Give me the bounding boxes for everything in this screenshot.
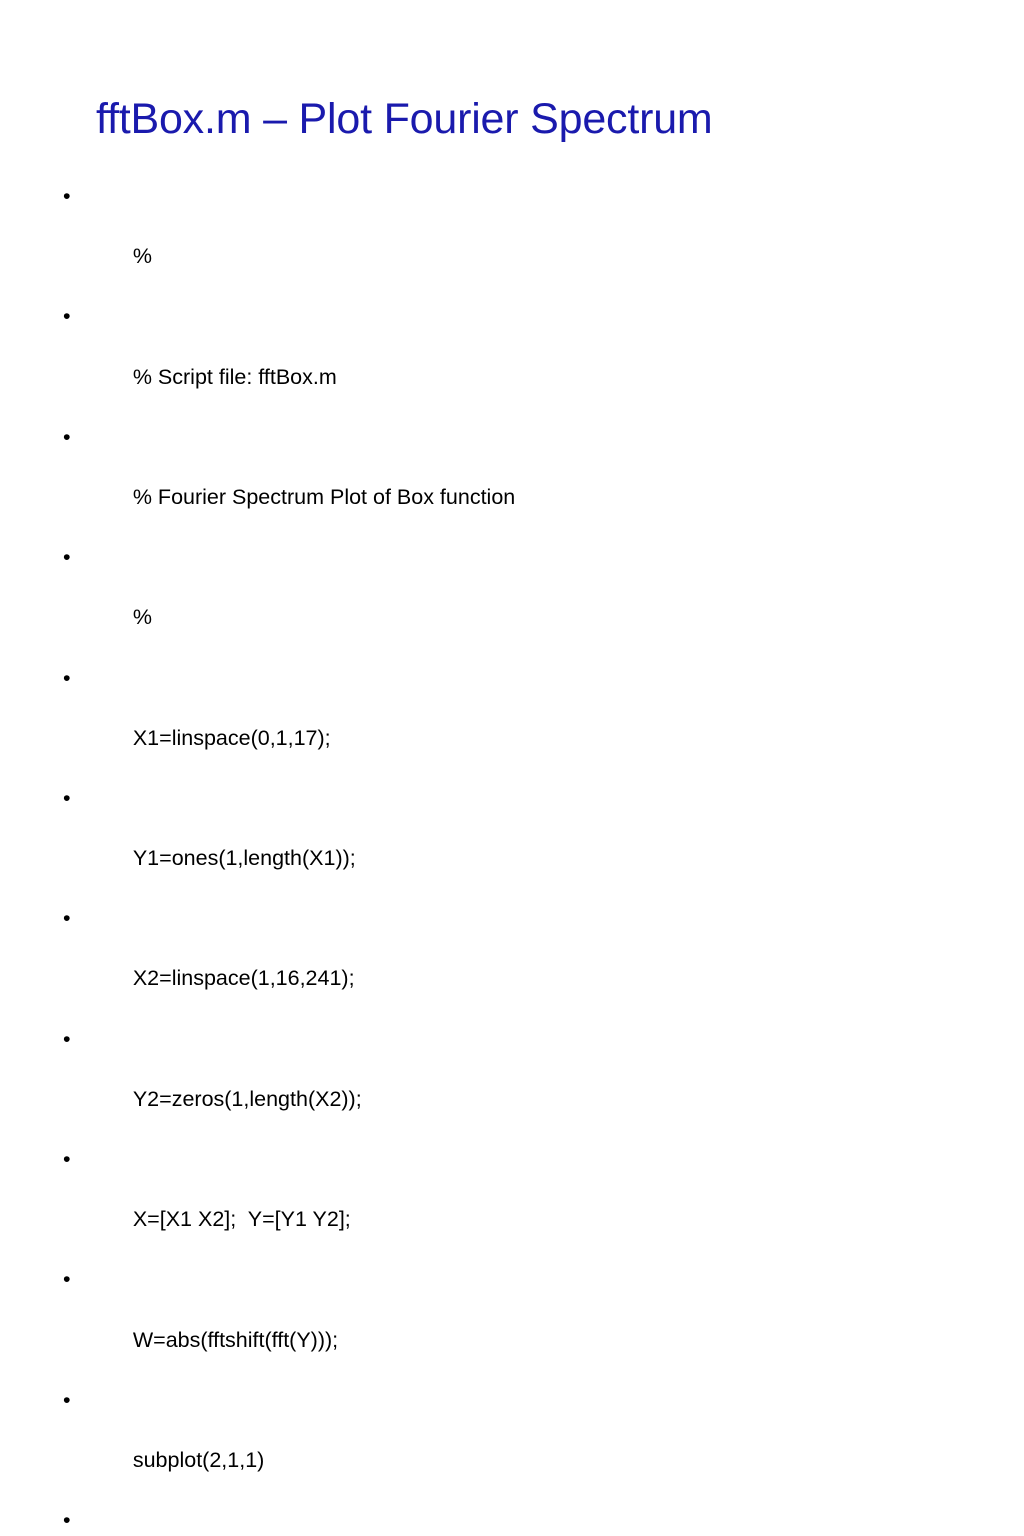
bullet-icon: • <box>63 301 77 331</box>
bullet-icon: • <box>63 422 77 452</box>
list-item: • % Script file: fftBox.m <box>62 301 962 421</box>
list-item-label: % <box>133 241 152 271</box>
list-item: • Y2=zeros(1,length(X2)); <box>62 1024 962 1144</box>
list-item-label: Y1=ones(1,length(X1)); <box>133 843 356 873</box>
list-item: • X1=linspace(0,1,17); <box>62 663 962 783</box>
list-item: • plot(X,Y,'r'); axis([0 16, 0,1.2]); ti… <box>62 1505 962 1536</box>
list-item: • X2=linspace(1,16,241); <box>62 903 962 1023</box>
list-item-label: X1=linspace(0,1,17); <box>133 723 331 753</box>
bullet-icon: • <box>63 1505 77 1535</box>
bullet-icon: • <box>63 1144 77 1174</box>
list-item: • % Fourier Spectrum Plot of Box functio… <box>62 422 962 542</box>
page-title: fftBox.m – Plot Fourier Spectrum <box>96 93 956 145</box>
bullet-icon: • <box>63 1385 77 1415</box>
bullet-icon: • <box>63 1264 77 1294</box>
list-item: • subplot(2,1,1) <box>62 1385 962 1505</box>
list-item-label: Y2=zeros(1,length(X2)); <box>133 1084 362 1114</box>
list-item: • Y1=ones(1,length(X1)); <box>62 783 962 903</box>
list-item: • % <box>62 542 962 662</box>
bullet-icon: • <box>63 903 77 933</box>
bullet-icon: • <box>63 663 77 693</box>
bullet-icon: • <box>63 783 77 813</box>
list-item-label: % Fourier Spectrum Plot of Box function <box>133 482 515 512</box>
bullet-icon: • <box>63 542 77 572</box>
list-item: • W=abs(fftshift(fft(Y))); <box>62 1264 962 1384</box>
list-item-label: subplot(2,1,1) <box>133 1445 264 1475</box>
slide-canvas: fftBox.m – Plot Fourier Spectrum • % • %… <box>0 0 1024 768</box>
code-bullet-list: • % • % Script file: fftBox.m • % Fourie… <box>62 181 962 1536</box>
list-item-label: X2=linspace(1,16,241); <box>133 963 355 993</box>
list-item-label: X=[X1 X2]; Y=[Y1 Y2]; <box>133 1204 351 1234</box>
list-item-label: W=abs(fftshift(fft(Y))); <box>133 1325 338 1355</box>
list-item: • X=[X1 X2]; Y=[Y1 Y2]; <box>62 1144 962 1264</box>
bullet-icon: • <box>63 1024 77 1054</box>
list-item-label: % <box>133 602 152 632</box>
list-item-label: % Script file: fftBox.m <box>133 362 337 392</box>
list-item: • % <box>62 181 962 301</box>
bullet-icon: • <box>63 181 77 211</box>
